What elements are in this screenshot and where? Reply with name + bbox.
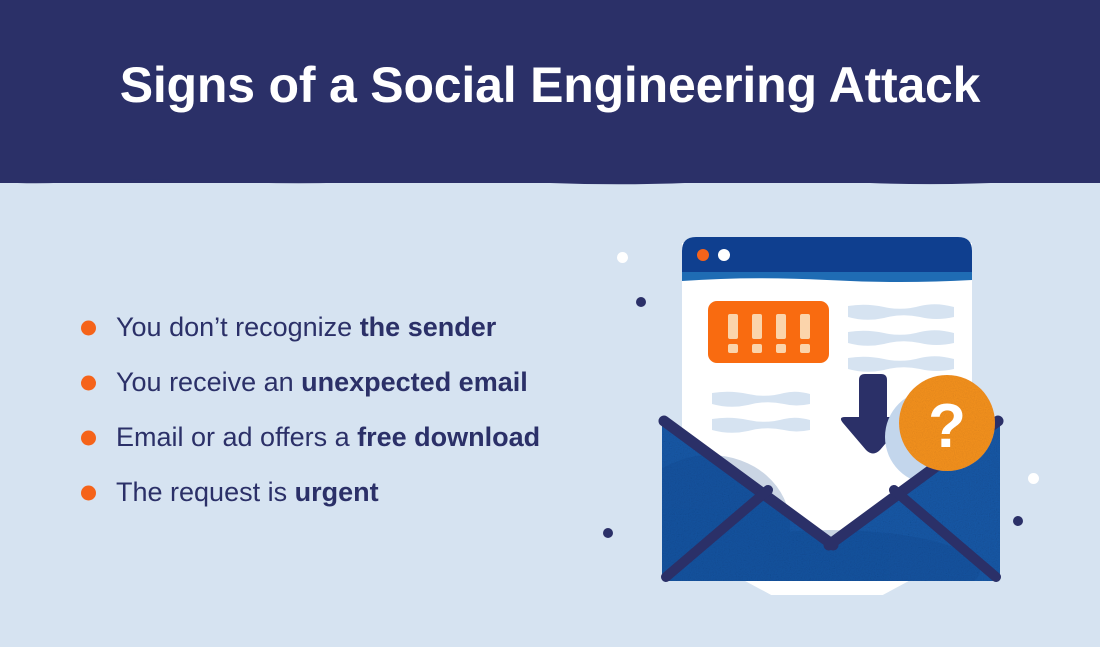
bullet-icon — [81, 430, 96, 445]
list-item-emphasis: free download — [357, 422, 540, 452]
suspicious-email-illustration: ? — [600, 225, 1060, 595]
list-item-lead: You don’t recognize — [116, 312, 360, 342]
deco-dot-navy-lower-left — [603, 528, 613, 538]
list-item-text: Email or ad offers a free download — [116, 424, 540, 451]
header-band: Signs of a Social Engineering Attack — [0, 0, 1100, 183]
list-item-lead: You receive an — [116, 367, 301, 397]
deco-dot-navy-right — [1013, 516, 1023, 526]
bullet-icon — [81, 320, 96, 335]
letter-text-lines-right — [848, 304, 954, 372]
warning-badge-icon — [708, 301, 829, 363]
signs-list: You don’t recognize the sender You recei… — [78, 300, 638, 520]
deco-dot-white-right — [1028, 473, 1039, 484]
list-item-lead: The request is — [116, 477, 295, 507]
list-item: Email or ad offers a free download — [78, 410, 638, 465]
list-item-text: You receive an unexpected email — [116, 369, 528, 396]
bullet-icon — [81, 485, 96, 500]
list-item-emphasis: unexpected email — [301, 367, 528, 397]
list-item-lead: Email or ad offers a — [116, 422, 357, 452]
header-bottom-edge — [0, 179, 1100, 189]
list-item: You don’t recognize the sender — [78, 300, 638, 355]
deco-dot-white-upper — [617, 252, 628, 263]
infographic-canvas: Signs of a Social Engineering Attack You… — [0, 0, 1100, 647]
list-item: The request is urgent — [78, 465, 638, 520]
page-title: Signs of a Social Engineering Attack — [0, 58, 1100, 113]
list-item-text: The request is urgent — [116, 479, 379, 506]
list-item: You receive an unexpected email — [78, 355, 638, 410]
question-badge-label: ? — [928, 392, 966, 461]
browser-dot-orange-icon — [697, 249, 709, 261]
browser-dot-white-icon — [718, 249, 730, 261]
bullet-icon — [81, 375, 96, 390]
list-item-text: You don’t recognize the sender — [116, 314, 496, 341]
deco-dot-navy-upper — [636, 297, 646, 307]
list-item-emphasis: the sender — [360, 312, 497, 342]
question-badge-icon: ? — [899, 375, 995, 471]
list-item-emphasis: urgent — [295, 477, 379, 507]
